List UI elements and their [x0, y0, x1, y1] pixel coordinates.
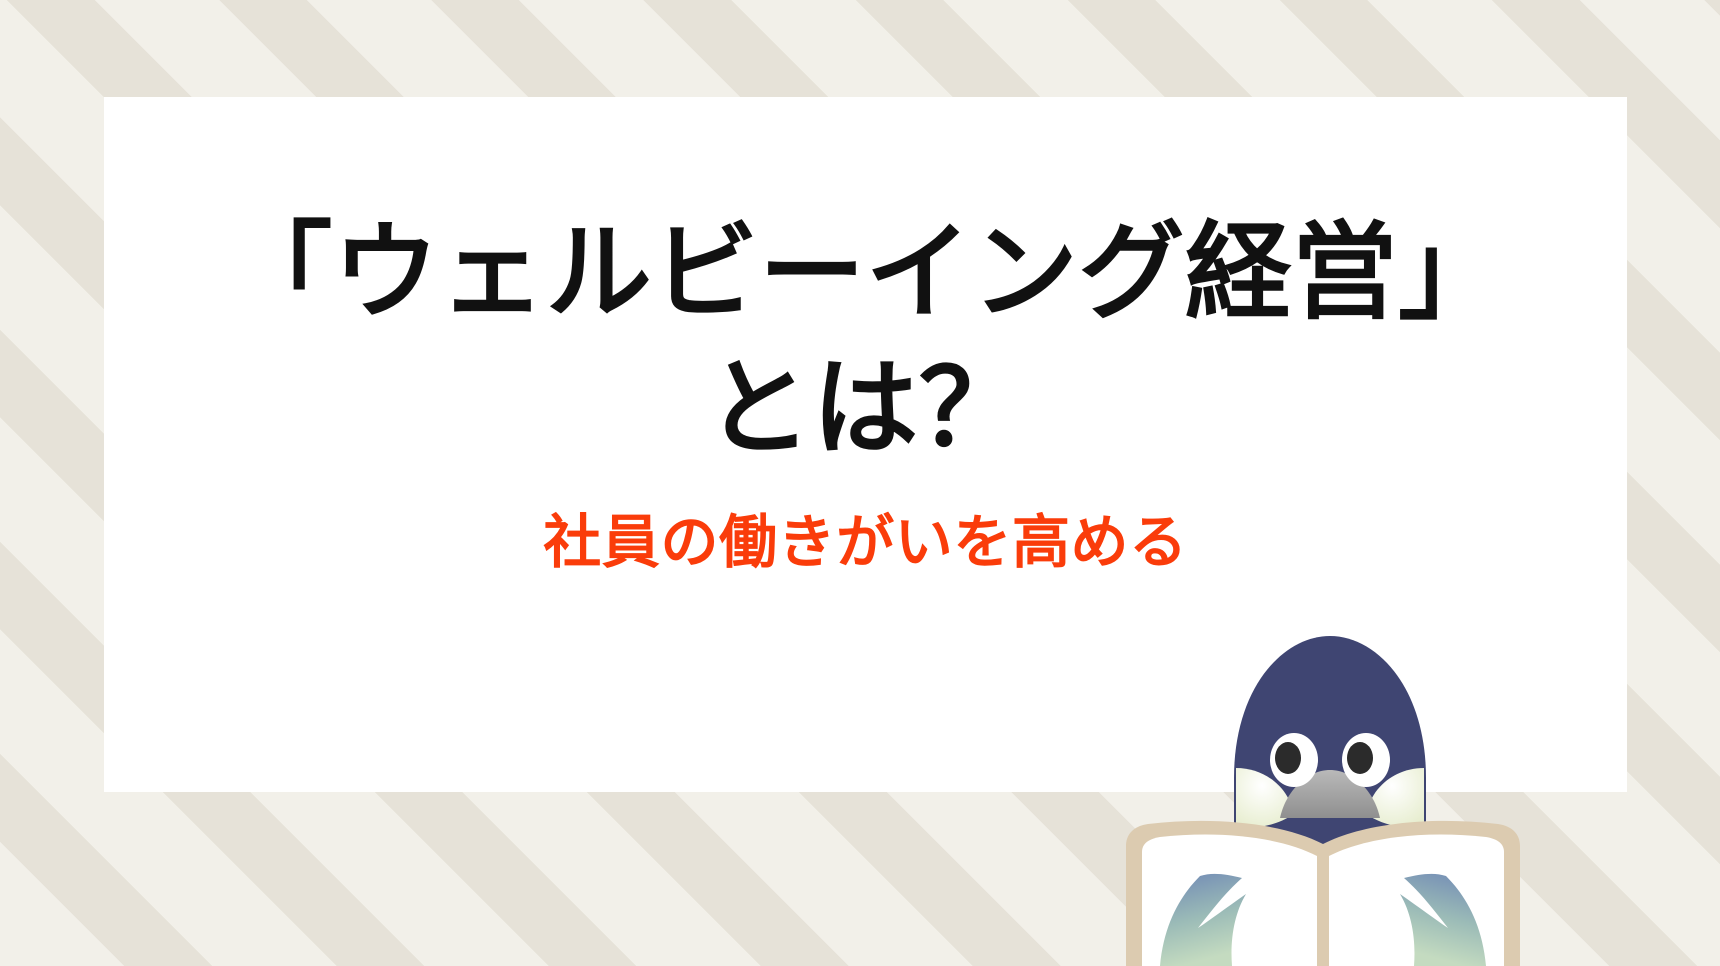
text-block: 「ウェルビーイング経営」 とは？ 社員の働きがいを高める	[104, 97, 1627, 579]
headline-line-1: 「ウェルビーイング経営」	[104, 205, 1627, 343]
headline-line-2: とは？	[104, 341, 1627, 479]
content-card: 「ウェルビーイング経営」 とは？ 社員の働きがいを高める	[104, 97, 1627, 792]
subtitle: 社員の働きがいを高める	[104, 507, 1627, 580]
poster-canvas: 「ウェルビーイング経営」 とは？ 社員の働きがいを高める	[0, 0, 1720, 966]
